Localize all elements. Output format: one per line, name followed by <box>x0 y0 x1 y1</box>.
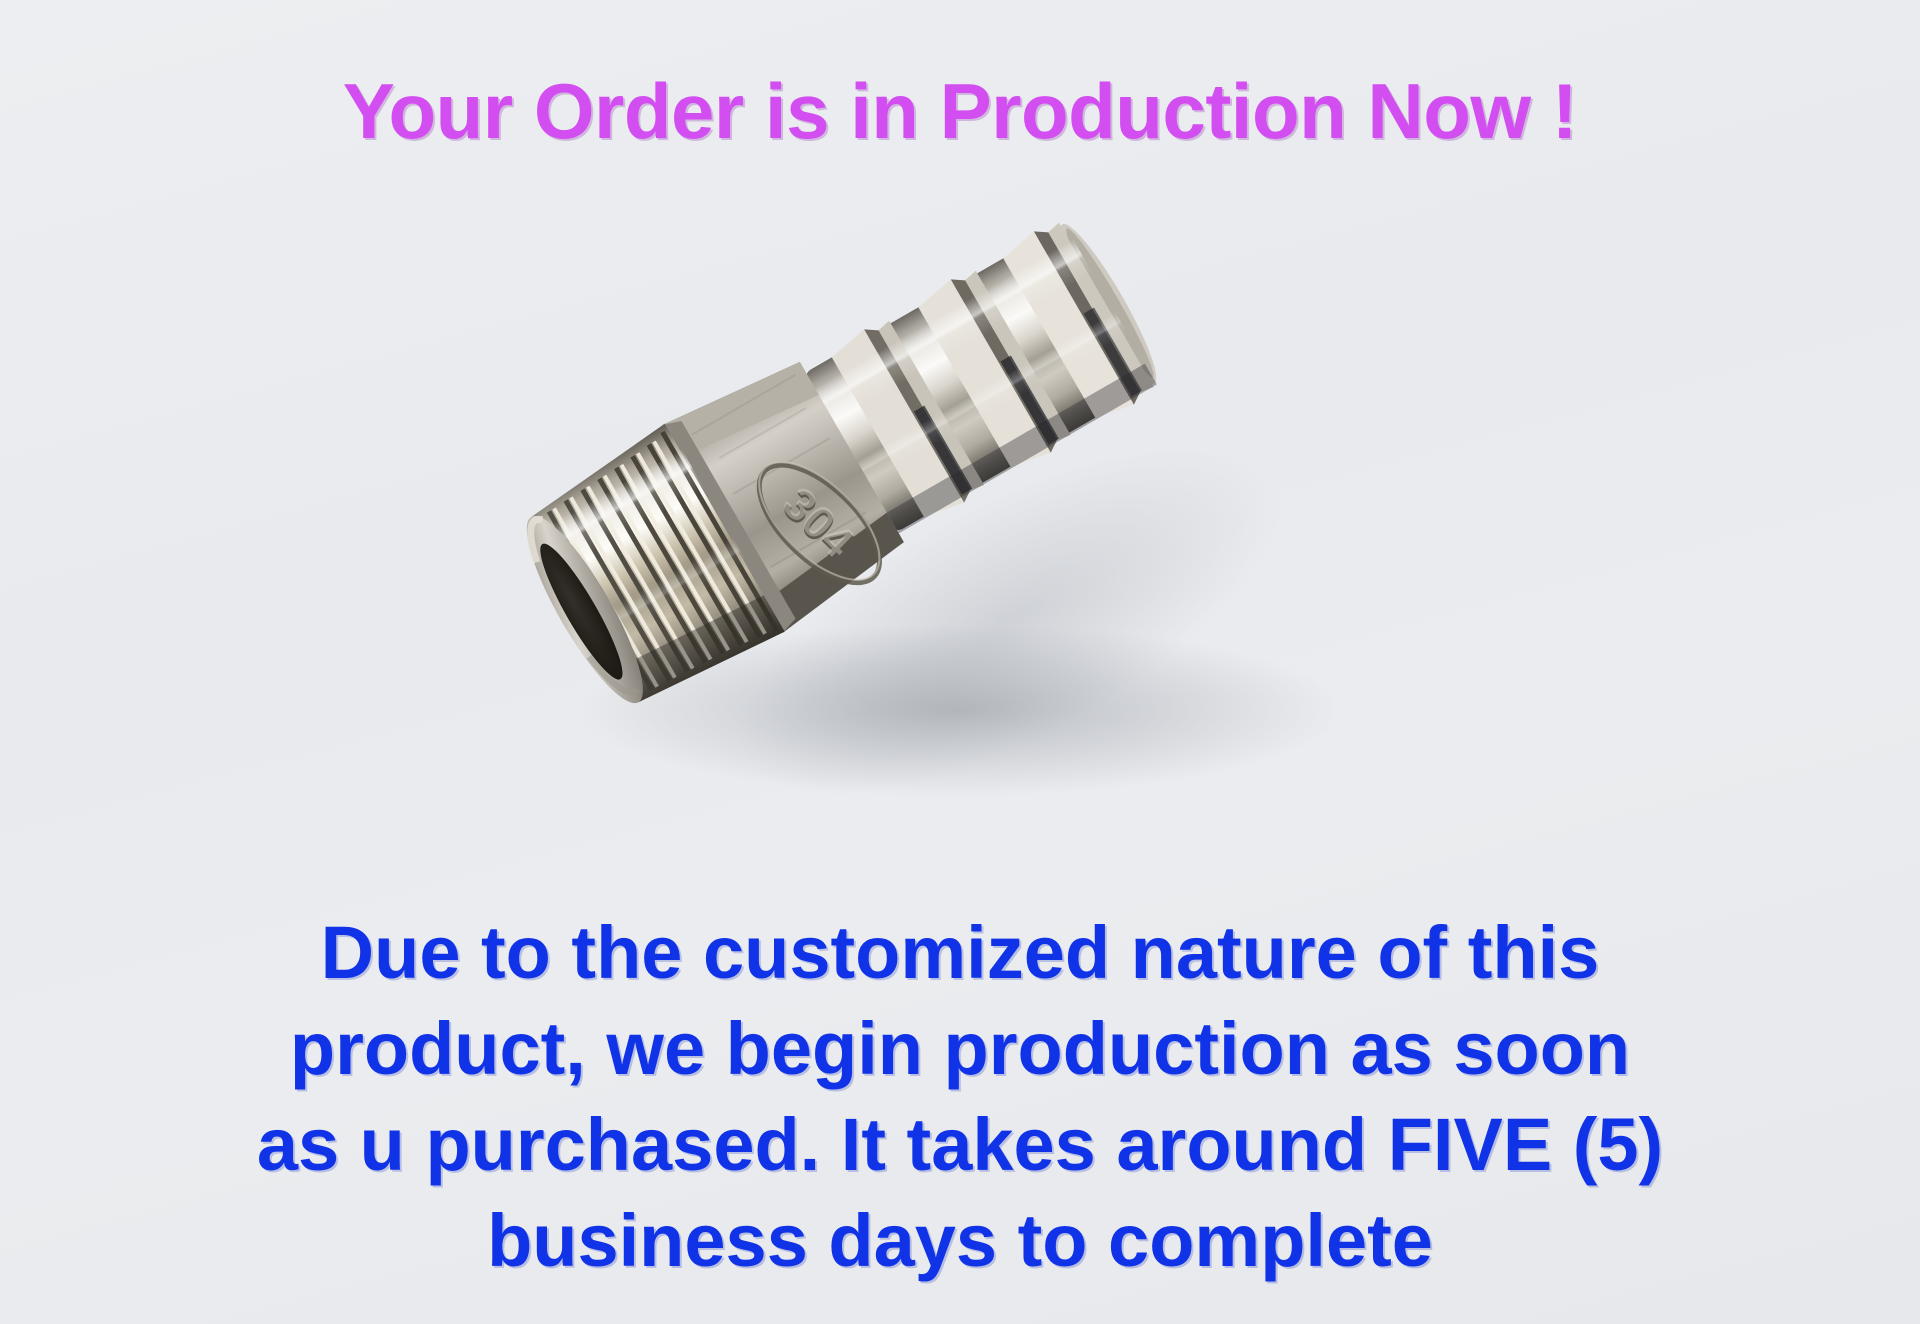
body-line-2: product, we begin production as soon <box>0 1001 1920 1097</box>
body-line-1: Due to the customized nature of this <box>0 905 1920 1001</box>
banner-root: Your Order is in Production Now ! <box>0 0 1920 1324</box>
page-title: Your Order is in Production Now ! <box>0 72 1920 150</box>
hose-barb-fitting-illustration: 304 304 <box>0 150 1920 890</box>
body-line-4: business days to complete <box>0 1193 1920 1289</box>
product-photo: 304 304 <box>0 150 1920 890</box>
body-copy: Due to the customized nature of this pro… <box>0 905 1920 1289</box>
body-line-3: as u purchased. It takes around FIVE (5) <box>0 1097 1920 1193</box>
